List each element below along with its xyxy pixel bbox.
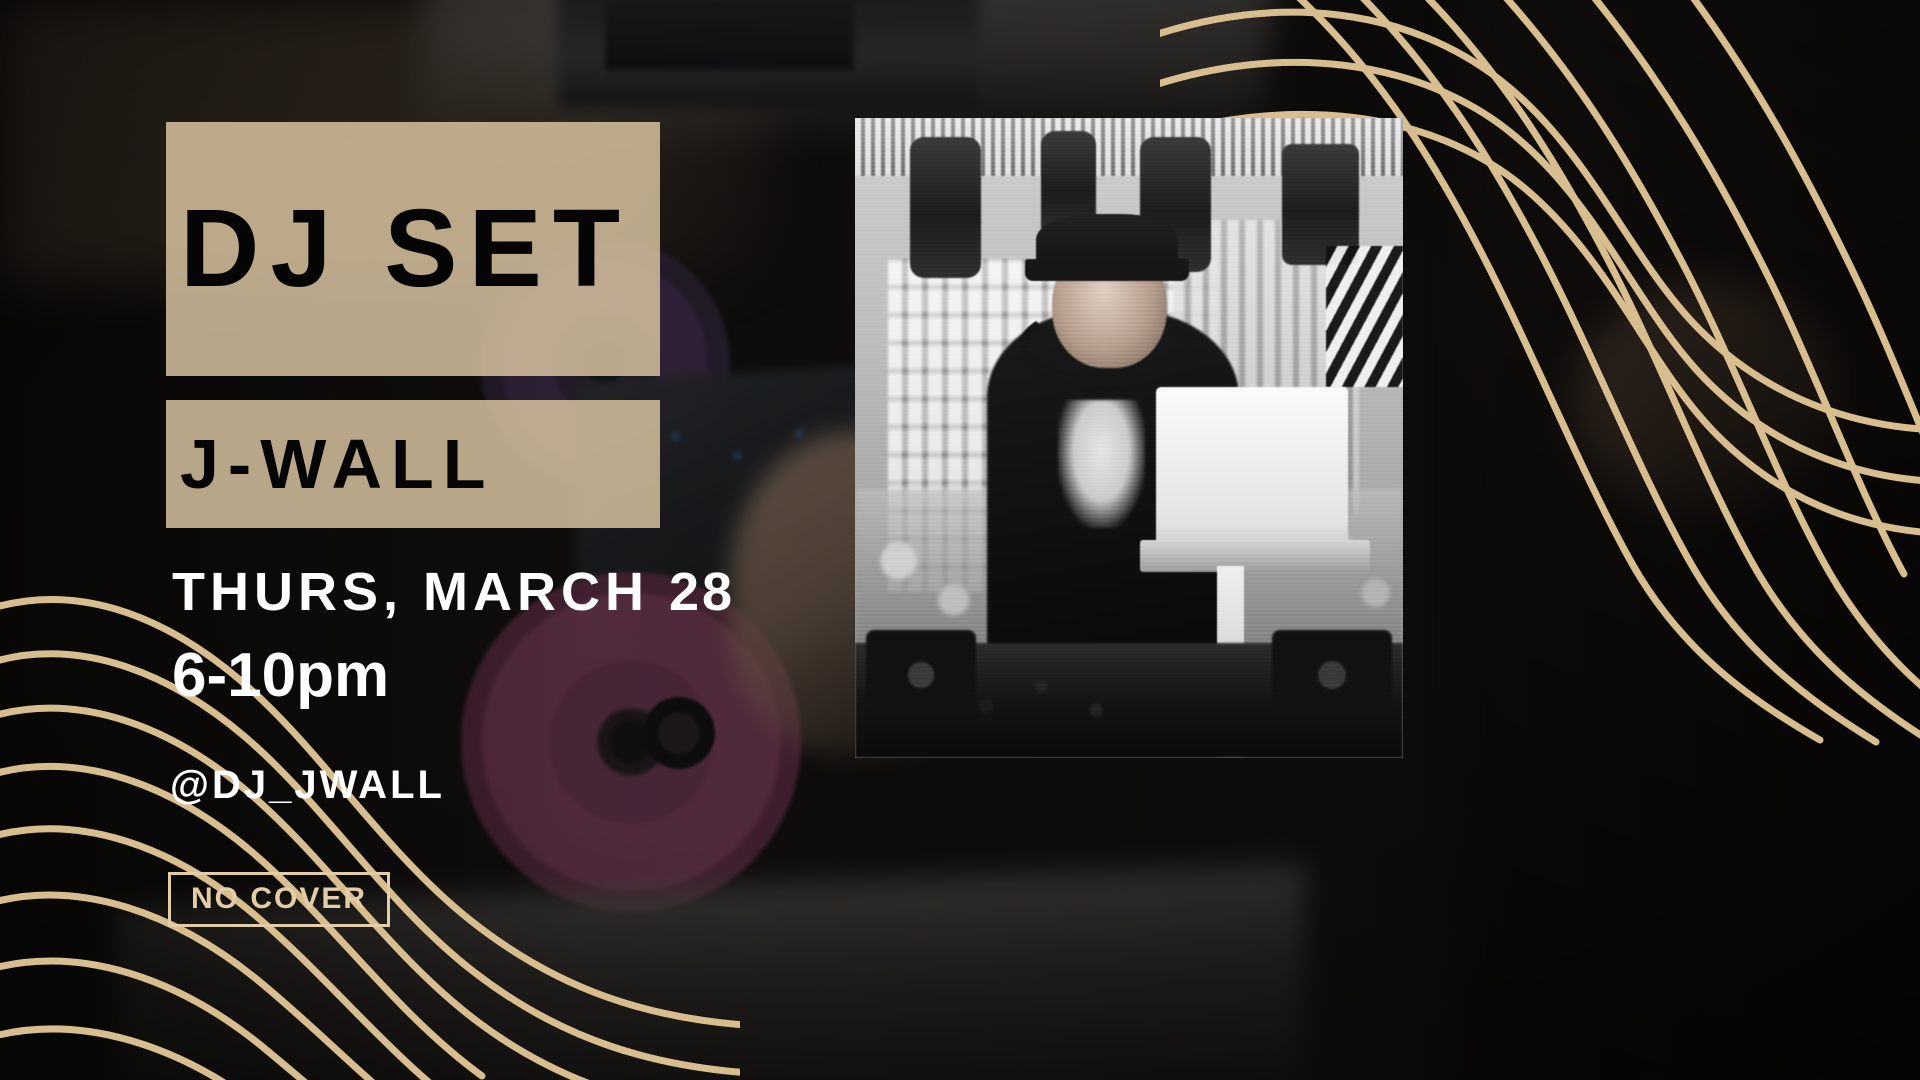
- event-flyer: DJ SET J-WALL THURS, MARCH 28 6-10pm @DJ…: [0, 0, 1920, 1080]
- artist-band: J-WALL: [166, 400, 660, 528]
- page-title: DJ SET: [180, 194, 631, 304]
- artist-portrait-photo: [855, 118, 1403, 758]
- event-date-day: 28: [669, 562, 735, 622]
- status-badge: NO COVER: [168, 872, 390, 927]
- event-date-text: THURS, MARCH: [172, 562, 649, 622]
- event-date: THURS, MARCH 28: [172, 565, 735, 619]
- title-band: DJ SET: [166, 122, 660, 376]
- social-handle: @DJ_JWALL: [170, 765, 445, 805]
- portrait-film-grain: [855, 118, 1403, 758]
- event-time: 6-10pm: [172, 645, 389, 707]
- artist-name: J-WALL: [180, 429, 495, 499]
